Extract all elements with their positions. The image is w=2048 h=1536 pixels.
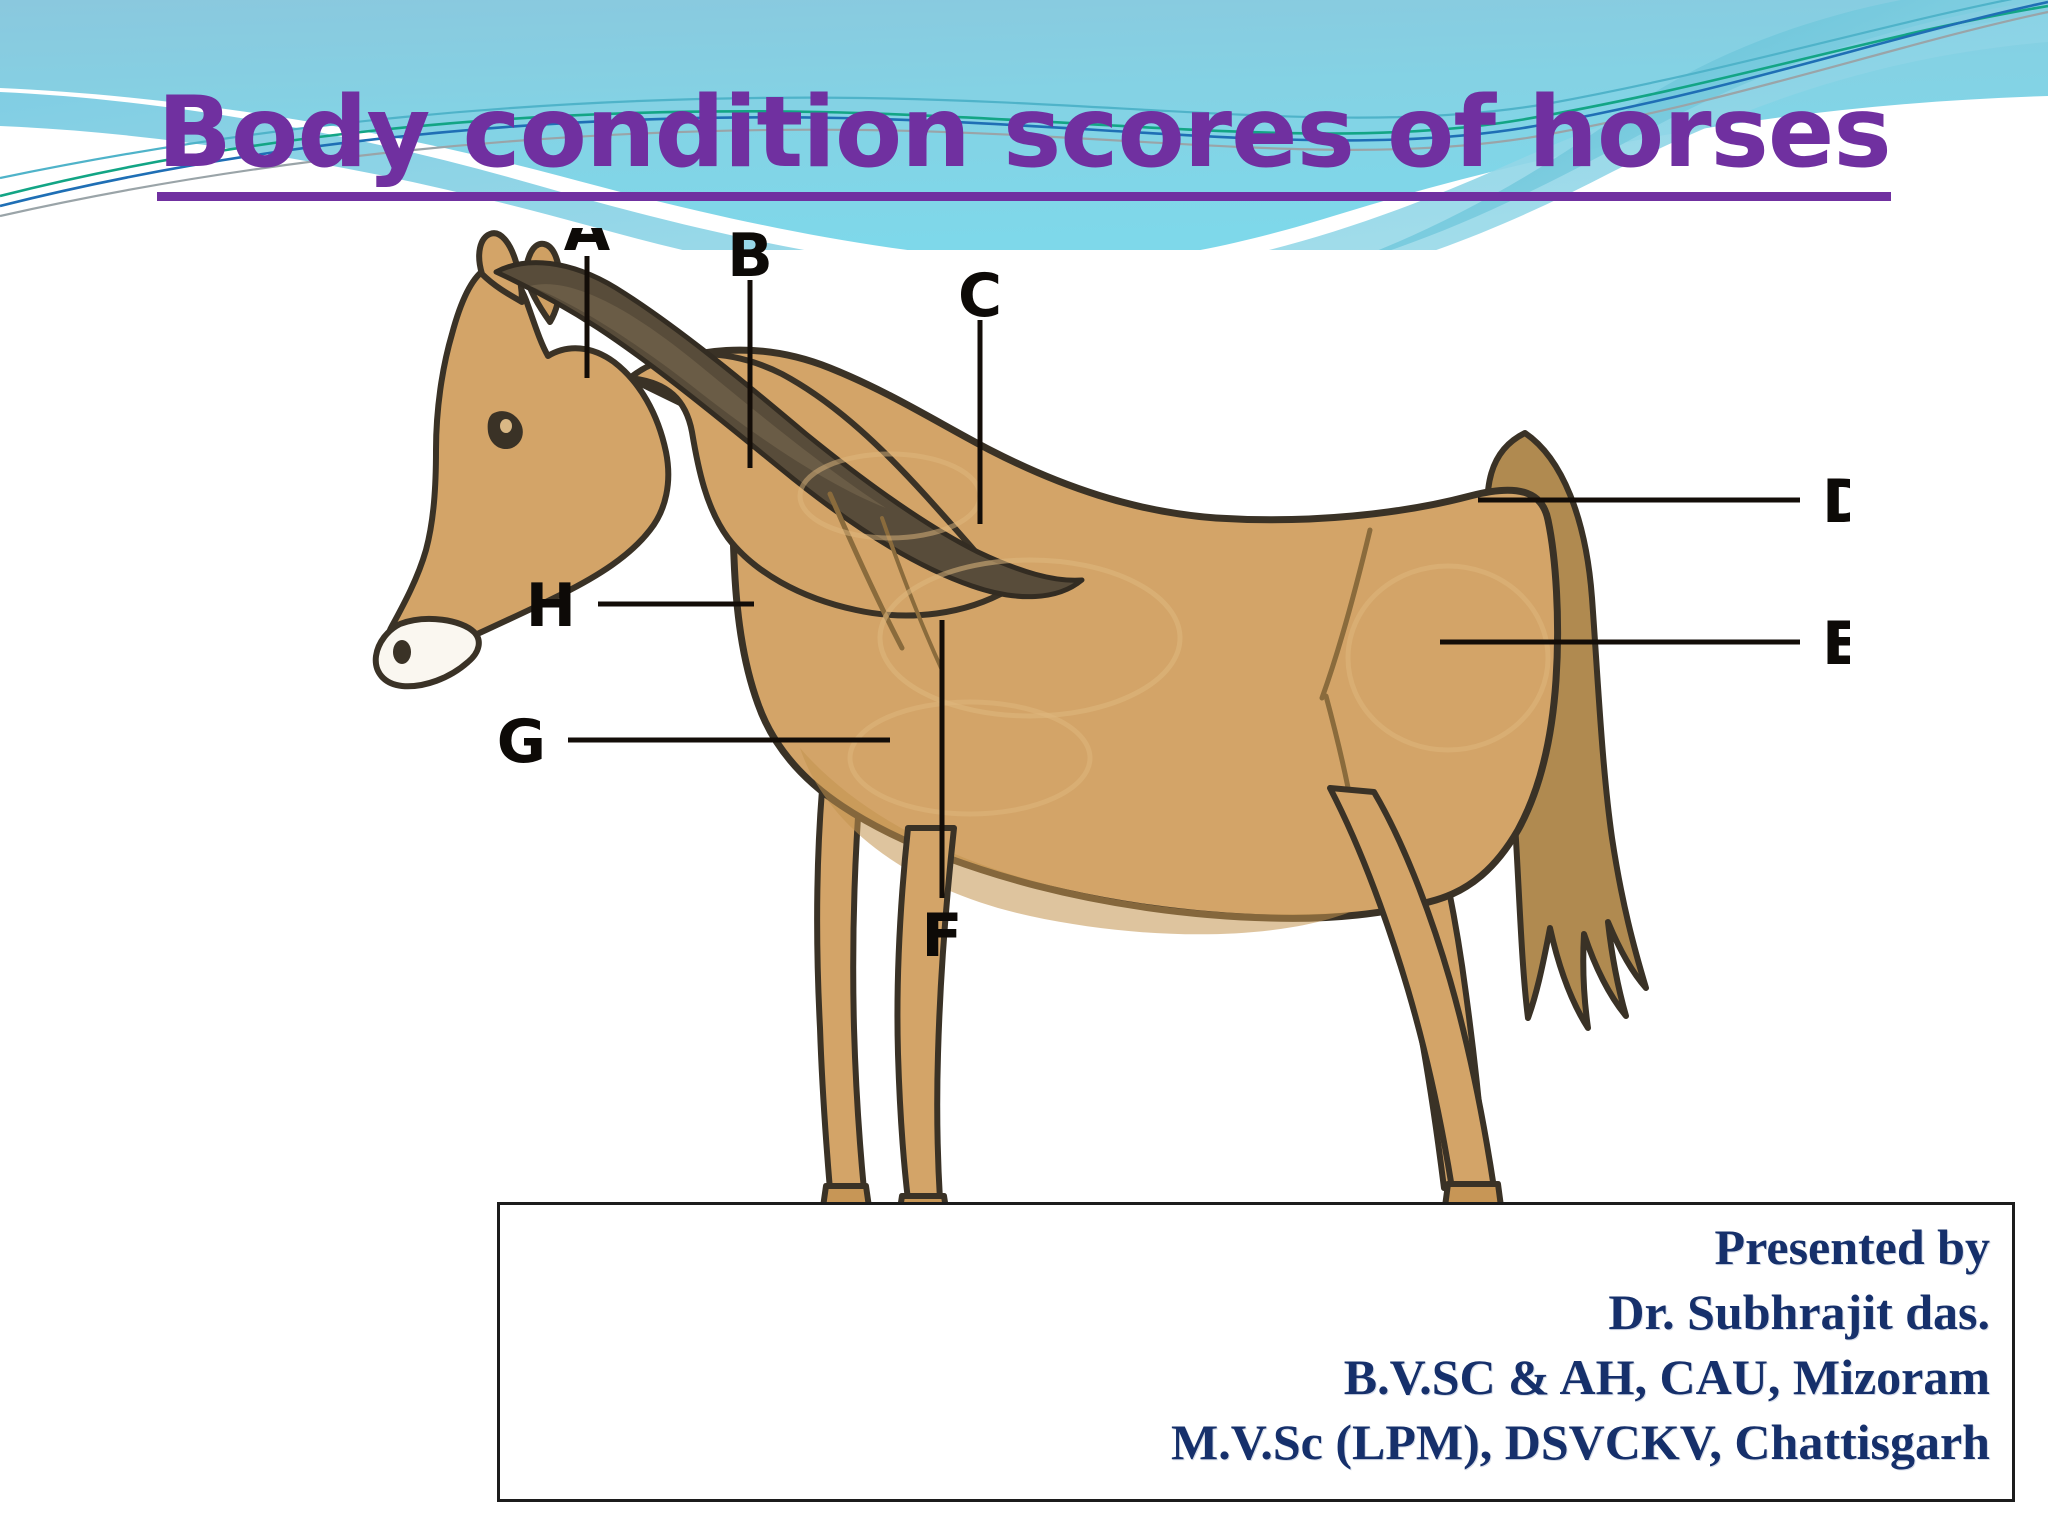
horse-muzzle bbox=[376, 619, 479, 686]
diagram-label-C: C bbox=[958, 261, 1002, 331]
page-title-text: Body condition scores of horses bbox=[157, 82, 1890, 201]
horse-leg-front-far bbox=[817, 788, 864, 1190]
presenter-line-degree-2: M.V.Sc (LPM), DSVCKV, Chattisgarh bbox=[1171, 1410, 1990, 1475]
diagram-label-E: E bbox=[1822, 609, 1850, 679]
presenter-line-presented-by: Presented by bbox=[1715, 1215, 1990, 1280]
diagram-label-D: D bbox=[1822, 467, 1850, 537]
presenter-line-name: Dr. Subhrajit das. bbox=[1608, 1280, 1990, 1345]
presenter-text-box: Presented by Dr. Subhrajit das. B.V.SC &… bbox=[497, 1202, 2015, 1502]
horse-illustration bbox=[376, 233, 1646, 1222]
diagram-label-F: F bbox=[922, 901, 963, 971]
diagram-label-A: A bbox=[564, 228, 611, 265]
diagram-label-B: B bbox=[727, 228, 773, 291]
page-title: Body condition scores of horses bbox=[0, 82, 2048, 201]
horse-diagram: A B C D E F G H bbox=[330, 228, 1850, 1238]
horse-leg-front-near bbox=[897, 828, 954, 1200]
horse-eye-highlight bbox=[500, 419, 512, 433]
presentation-slide: Body condition scores of horses bbox=[0, 0, 2048, 1536]
diagram-label-H: H bbox=[526, 571, 576, 641]
diagram-label-G: G bbox=[497, 707, 546, 777]
presenter-line-degree-1: B.V.SC & AH, CAU, Mizoram bbox=[1344, 1345, 1990, 1410]
horse-nostril bbox=[393, 640, 411, 664]
